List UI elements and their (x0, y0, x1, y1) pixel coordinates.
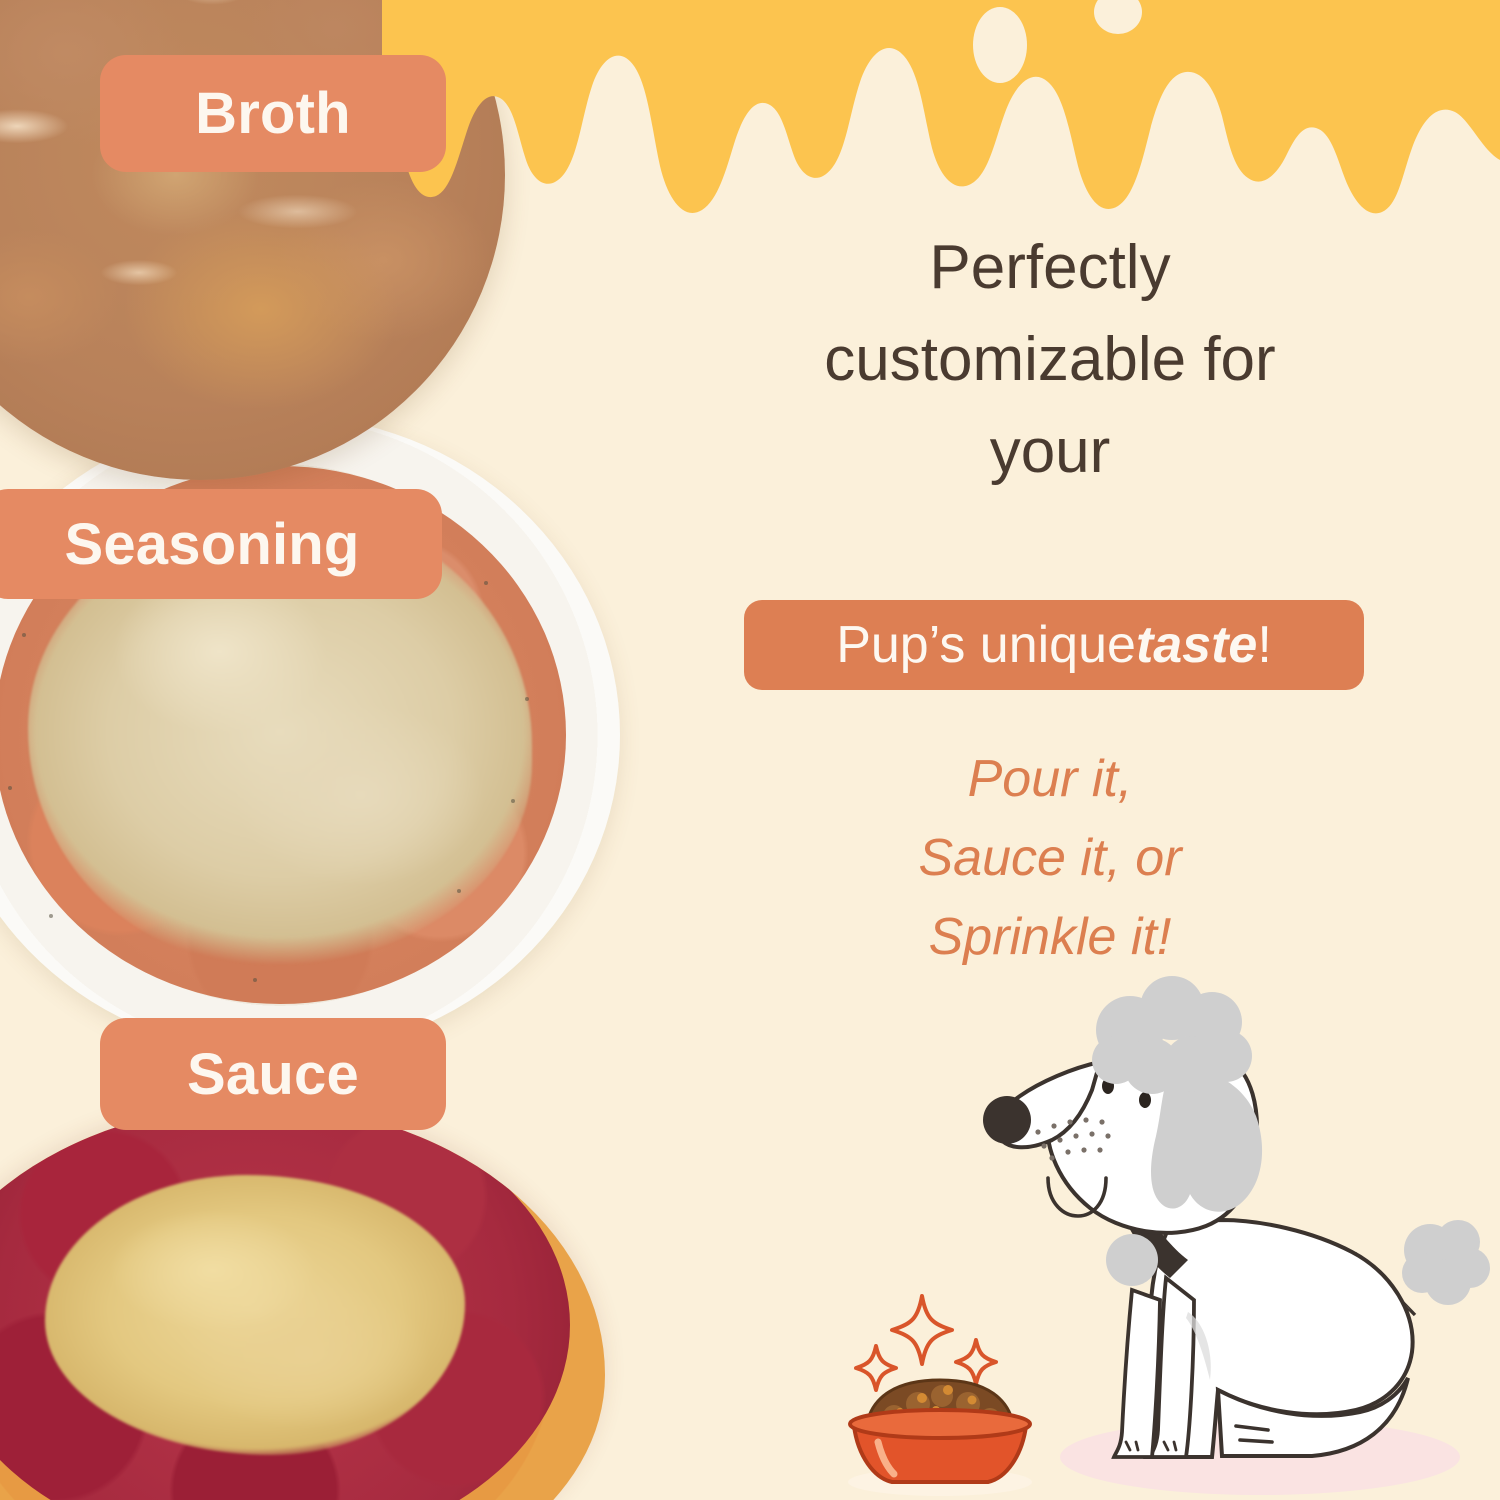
label-broth-text: Broth (195, 80, 351, 147)
label-seasoning: Seasoning (0, 489, 442, 599)
product-photo-column (0, 0, 620, 1500)
highlight-emphasis: taste (1136, 615, 1257, 675)
label-sauce-text: Sauce (187, 1041, 359, 1108)
tagline-line-1: Pour it, (700, 740, 1400, 819)
tagline-line-2: Sauce it, or (700, 819, 1400, 898)
headline-line-1: Perfectly (700, 222, 1400, 314)
yellow-sauce-blob (45, 1175, 465, 1455)
highlight-pill: Pup’s unique taste! (744, 600, 1364, 690)
tagline: Pour it, Sauce it, or Sprinkle it! (700, 740, 1400, 977)
sauce-photo (0, 1105, 605, 1500)
label-seasoning-text: Seasoning (64, 511, 359, 578)
highlight-prefix: Pup’s unique (836, 615, 1136, 675)
label-sauce: Sauce (100, 1018, 446, 1130)
headline: Perfectly customizable for your (700, 222, 1400, 497)
copy-column: Perfectly customizable for your Pup’s un… (700, 0, 1500, 1500)
highlight-suffix: ! (1257, 615, 1271, 675)
tagline-line-3: Sprinkle it! (700, 898, 1400, 977)
promo-graphic: Broth Seasoning Sauce Perfectly customiz… (0, 0, 1500, 1500)
headline-line-3: your (700, 406, 1400, 498)
label-broth: Broth (100, 55, 446, 172)
headline-line-2: customizable for (700, 314, 1400, 406)
